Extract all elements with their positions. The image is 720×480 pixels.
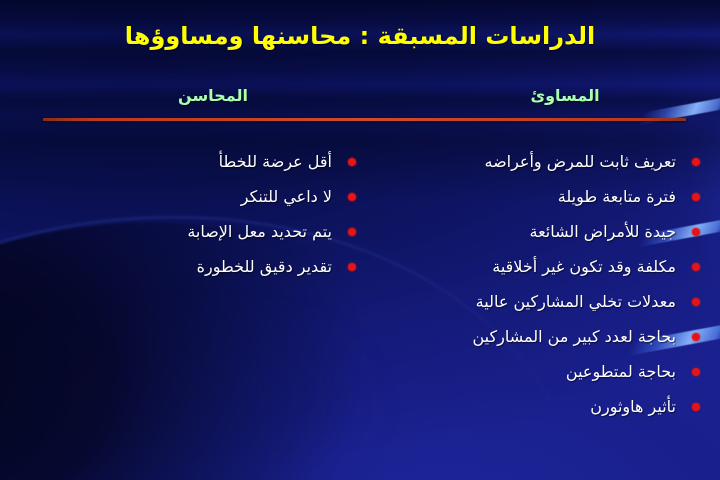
bullet-item: بحاجة لمتطوعين <box>322 354 702 389</box>
bullet-item: مكلفة وقد تكون غير أخلاقية <box>322 249 702 284</box>
bullet-marker-icon <box>692 158 700 166</box>
bullet-marker-icon <box>692 228 700 236</box>
column-header-disadvantages: المساوئ <box>500 86 630 105</box>
bullet-marker-icon <box>692 368 700 376</box>
slide-title: الدراسات المسبقة : محاسنها ومساوؤها <box>0 22 720 50</box>
bullet-marker-icon <box>692 298 700 306</box>
bullet-item-label: تأثير هاوثورن <box>590 389 676 424</box>
bullet-item: بحاجة لعدد كبير من المشاركين <box>322 319 702 354</box>
bullet-item-label: فترة متابعة طويلة <box>558 179 676 214</box>
bullet-marker-icon <box>348 158 356 166</box>
column-header-advantages: المحاسن <box>148 86 278 105</box>
bullet-item-label: معدلات تخلي المشاركين عالية <box>476 284 676 319</box>
slide-content: الدراسات المسبقة : محاسنها ومساوؤها المس… <box>0 0 720 480</box>
bullet-marker-icon <box>692 333 700 341</box>
bullet-marker-icon <box>692 193 700 201</box>
bullet-marker-icon <box>692 403 700 411</box>
bullet-item-label: أقل عرضة للخطأ <box>219 144 332 179</box>
bullet-item-label: جيدة للأمراض الشائعة <box>530 214 677 249</box>
bullet-item-label: تعريف ثابت للمرض وأعراضه <box>484 144 676 179</box>
bullet-list-advantages: أقل عرضة للخطألا داعي للتنكريتم تحديد مع… <box>58 144 358 284</box>
bullet-item: أقل عرضة للخطأ <box>58 144 358 179</box>
bullet-item: تعريف ثابت للمرض وأعراضه <box>322 144 702 179</box>
bullet-item-label: مكلفة وقد تكون غير أخلاقية <box>492 249 676 284</box>
bullet-list-disadvantages: تعريف ثابت للمرض وأعراضهفترة متابعة طويل… <box>322 144 702 424</box>
bullet-item-label: بحاجة لمتطوعين <box>566 354 676 389</box>
bullet-item: جيدة للأمراض الشائعة <box>322 214 702 249</box>
bullet-item: تأثير هاوثورن <box>322 389 702 424</box>
bullet-item: معدلات تخلي المشاركين عالية <box>322 284 702 319</box>
header-divider-line <box>43 118 686 121</box>
bullet-item-label: لا داعي للتنكر <box>241 179 332 214</box>
bullet-item: يتم تحديد معل الإصابة <box>58 214 358 249</box>
bullet-marker-icon <box>348 193 356 201</box>
bullet-item: فترة متابعة طويلة <box>322 179 702 214</box>
bullet-marker-icon <box>348 263 356 271</box>
bullet-item-label: بحاجة لعدد كبير من المشاركين <box>472 319 676 354</box>
bullet-item: لا داعي للتنكر <box>58 179 358 214</box>
bullet-marker-icon <box>348 228 356 236</box>
bullet-item-label: تقدير دقيق للخطورة <box>197 249 332 284</box>
bullet-marker-icon <box>692 263 700 271</box>
bullet-item-label: يتم تحديد معل الإصابة <box>187 214 332 249</box>
presentation-slide: الدراسات المسبقة : محاسنها ومساوؤها المس… <box>0 0 720 480</box>
bullet-item: تقدير دقيق للخطورة <box>58 249 358 284</box>
